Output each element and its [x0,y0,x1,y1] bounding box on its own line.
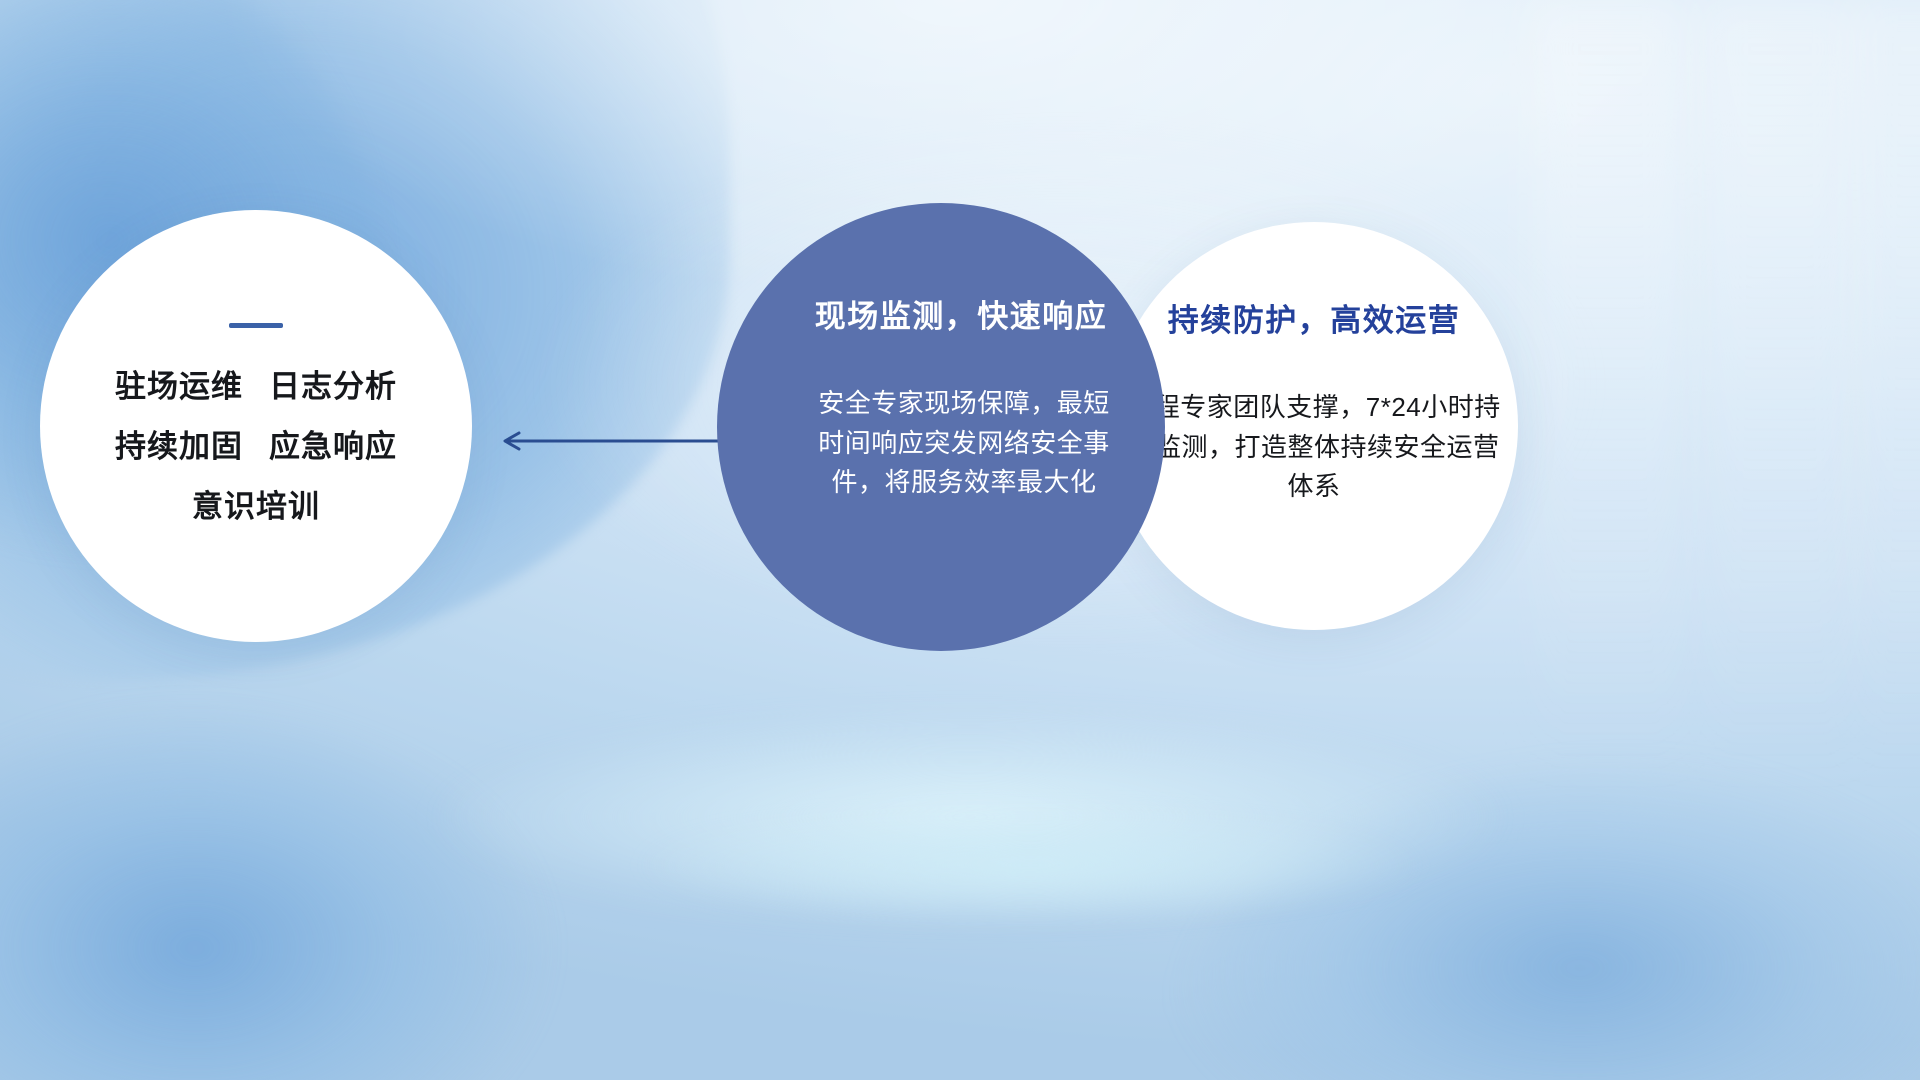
background-streak-c [1850,0,1920,780]
capability-label: 持续加固 [115,429,243,464]
capability-label: 驻场运维 [115,369,243,404]
capabilities-row: 驻场运维日志分析 [115,371,397,402]
continuous-protection-content: 持续防护，高效运营 远程专家团队支撑，7*24小时持续监测，打造整体持续安全运营… [1110,222,1518,630]
on-site-title: 现场监测，快速响应 [775,291,1108,336]
capabilities-row: 意识培训 [115,491,397,522]
arrow-left-icon [497,430,722,452]
on-site-circle[interactable]: 现场监测，快速响应 安全专家现场保障，最短时间响应突发网络安全事件，将服务效率最… [717,203,1165,651]
capability-label: 应急响应 [269,429,397,464]
slide-canvas: 驻场运维日志分析 持续加固应急响应 意识培训 持续防护，高效运营 远程专家团队支… [0,0,1920,1080]
continuous-protection-body: 远程专家团队支撑，7*24小时持续监测，打造整体持续安全运营体系 [1124,388,1504,507]
background-streak-b [1700,0,1860,780]
continuous-protection-circle[interactable]: 持续防护，高效运营 远程专家团队支撑，7*24小时持续监测，打造整体持续安全运营… [1110,222,1518,630]
on-site-body: 安全专家现场保障，最短时间响应突发网络安全事件，将服务效率最大化 [768,384,1114,503]
accent-dash-divider [229,323,283,328]
capability-label: 意识培训 [192,489,320,524]
background-streak-a [1530,0,1690,780]
on-site-circle-content: 现场监测，快速响应 安全专家现场保障，最短时间响应突发网络安全事件，将服务效率最… [717,203,1165,651]
capabilities-list: 驻场运维日志分析 持续加固应急响应 意识培训 [115,371,397,522]
capabilities-circle[interactable]: 驻场运维日志分析 持续加固应急响应 意识培训 [40,210,472,642]
capability-label: 日志分析 [269,369,397,404]
continuous-protection-title: 持续防护，高效运营 [1168,295,1461,340]
capabilities-row: 持续加固应急响应 [115,431,397,462]
capabilities-circle-content: 驻场运维日志分析 持续加固应急响应 意识培训 [40,210,472,642]
